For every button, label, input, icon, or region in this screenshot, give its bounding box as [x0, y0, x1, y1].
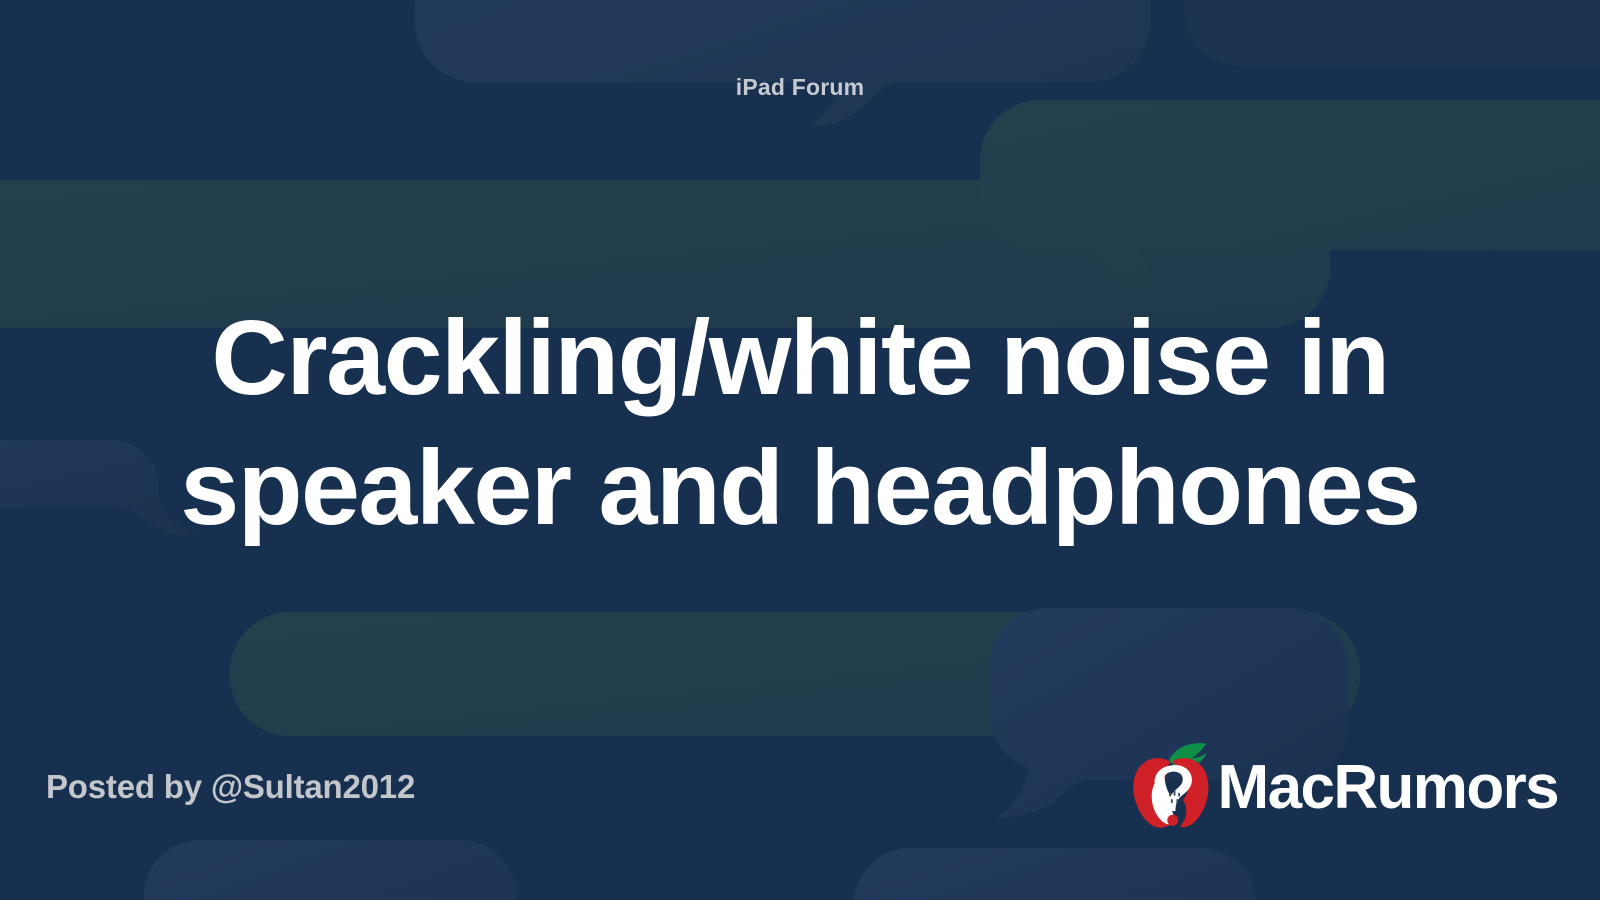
- posted-by-label: Posted by @Sultan2012: [46, 768, 415, 806]
- card-content: iPad Forum Crackling/white noise in spea…: [0, 0, 1600, 900]
- macrumors-wordmark: MacRumors: [1218, 757, 1558, 819]
- page-title: Crackling/white noise in speaker and hea…: [140, 293, 1460, 553]
- macrumors-brand: MacRumors: [1124, 735, 1558, 835]
- macrumors-thread-share-card: iPad Forum Crackling/white noise in spea…: [0, 0, 1600, 900]
- forum-label: iPad Forum: [0, 74, 1600, 101]
- macrumors-apple-logo-icon: [1124, 738, 1216, 833]
